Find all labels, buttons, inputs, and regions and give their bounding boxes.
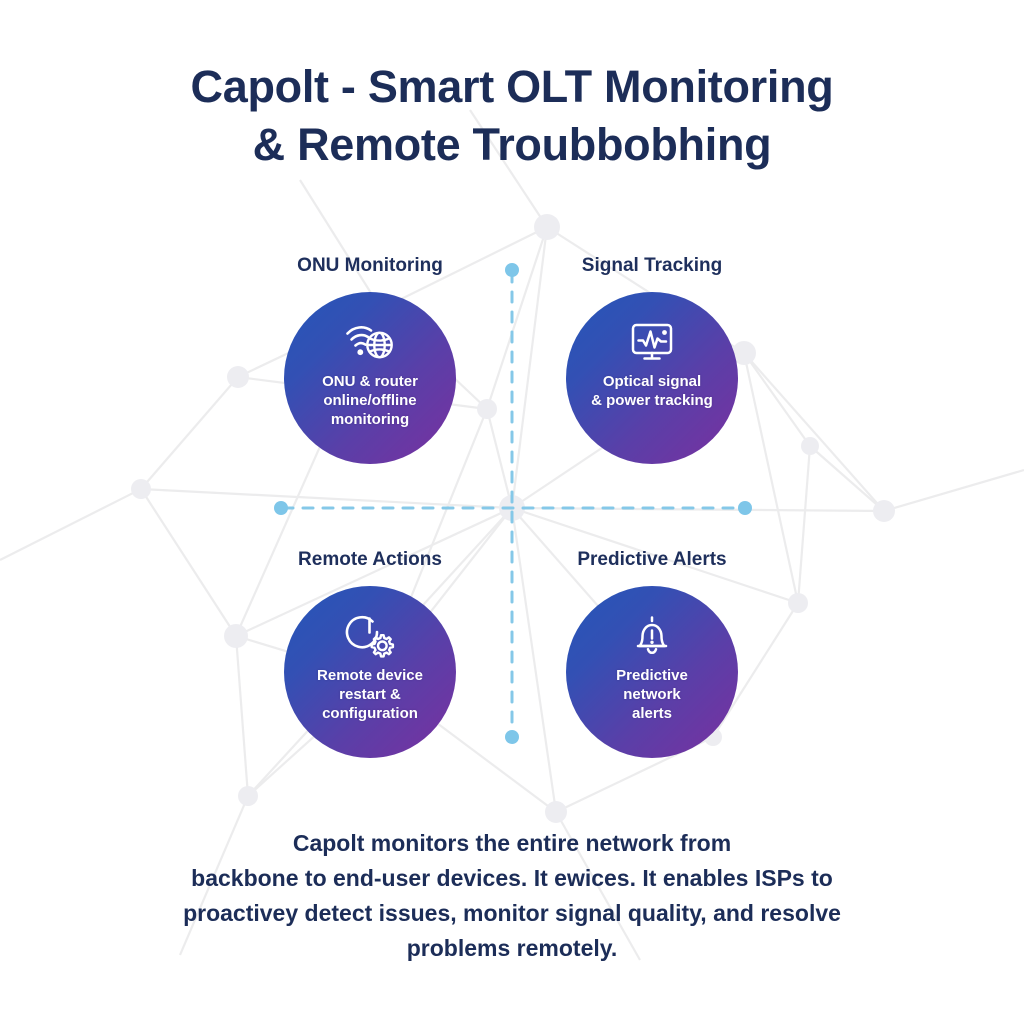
footer-line-4: problems remotely. [112,931,912,966]
page-title: Capolt - Smart OLT Monitoring & Remote T… [0,58,1024,174]
bubble-text-onu-monitoring: ONU & router online/offline monitoring [295,372,445,429]
dashed-endpoint-right [738,501,752,515]
feature-bubble-remote-actions[interactable]: Remote device restart & configuration [284,586,456,758]
bubble-text-line-2: restart & [339,686,401,703]
bubble-text-signal-tracking: Optical signal & power tracking [577,372,727,410]
bubble-text-line-1: ONU & router [322,373,418,390]
feature-card-predictive-alerts[interactable]: Predictive Alerts Predictive network ale… [522,548,782,758]
bubble-text-line-2: network [623,686,681,703]
bubble-text-line-3: monitoring [331,411,409,428]
bubble-text-line-2: online/offline [323,392,416,409]
footer-line-3: proactivey detect issues, monitor signal… [112,896,912,931]
page-title-line-2: & Remote Troubbobhing [0,116,1024,174]
page-title-line-1: Capolt - Smart OLT Monitoring [0,58,1024,116]
feature-bubble-onu-monitoring[interactable]: ONU & router online/offline monitoring [284,292,456,464]
bubble-text-line-3: alerts [632,705,672,722]
footer-description: Capolt monitors the entire network from … [112,826,912,966]
feature-card-remote-actions[interactable]: Remote Actions Remote device restart & c… [240,548,500,758]
feature-card-onu-monitoring[interactable]: ONU Monitoring ONU & router [240,254,500,464]
feature-bubble-predictive-alerts[interactable]: Predictive network alerts [566,586,738,758]
card-heading-signal-tracking: Signal Tracking [522,254,782,278]
bubble-text-line-1: Optical signal [603,373,701,390]
dashed-endpoint-left [274,501,288,515]
dashed-endpoint-bottom [505,730,519,744]
dashed-endpoint-top [505,263,519,277]
card-heading-predictive-alerts: Predictive Alerts [522,548,782,572]
bell-alert-icon [626,614,678,658]
infographic-canvas: Capolt - Smart OLT Monitoring & Remote T… [0,0,1024,1024]
card-heading-remote-actions: Remote Actions [240,548,500,572]
bubble-text-remote-actions: Remote device restart & configuration [295,666,445,723]
footer-line-2: backbone to end-user devices. It ewices.… [112,861,912,896]
bubble-text-line-1: Remote device [317,667,423,684]
bubble-text-line-1: Predictive [616,667,688,684]
wifi-globe-icon [344,320,396,364]
bubble-text-predictive-alerts: Predictive network alerts [577,666,727,723]
card-heading-onu-monitoring: ONU Monitoring [240,254,500,278]
bubble-text-line-2: & power tracking [591,392,713,409]
feature-card-signal-tracking[interactable]: Signal Tracking Optical signal & power t… [522,254,782,464]
bubble-text-line-3: configuration [322,705,418,722]
feature-bubble-signal-tracking[interactable]: Optical signal & power tracking [566,292,738,464]
footer-line-1: Capolt monitors the entire network from [112,826,912,861]
monitor-waveform-icon [626,320,678,364]
power-gear-icon [344,614,396,658]
